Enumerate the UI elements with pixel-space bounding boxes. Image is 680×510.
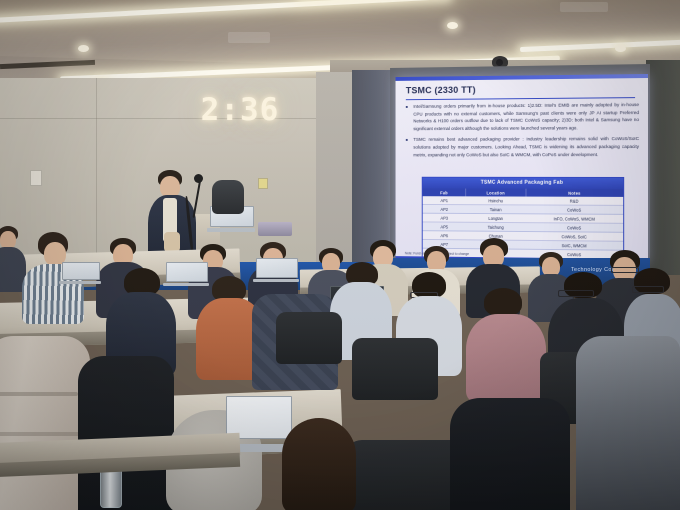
laptop-screen [62,262,100,280]
laptop-base [207,228,256,232]
ceiling-vent-panel [560,2,608,12]
column-header-notes: Notes [526,188,624,197]
presenter-hand [164,232,180,252]
office-chair [212,180,244,214]
slide-bullet: TSMC remains best advanced packaging pro… [405,135,639,158]
foreground-person-dark [78,356,174,510]
conference-room-photo: 2:36 TSMC (2330 TT) Intel/Samsung orders… [0,0,680,510]
presenter-desk-monitor [258,222,292,236]
laptop-screen [256,258,298,278]
cell-location: Hsinchu [466,197,526,206]
dark-wall-panel [352,70,394,265]
audience-laptop [62,262,98,284]
cell-location: Tainan [466,205,526,214]
ceiling-vent-panel [228,32,270,43]
jacket-seam [0,392,78,396]
eyeglasses [558,290,594,297]
foreground-person [450,398,570,510]
slide-title-underline [406,97,635,100]
slide-title: TSMC (2330 TT) [406,85,476,96]
eyeglasses [632,286,664,293]
cell-location: Longtan [466,214,526,223]
person-torso [466,314,546,402]
audience-person-mauve [466,288,546,398]
dark-wall-panel-right [646,60,680,275]
wall-clock: 2:36 [196,88,284,132]
ceiling-downlight [615,45,626,52]
column-header-location: Location [466,188,526,197]
person-hair [484,288,522,316]
wall-signage-plate [30,170,42,186]
cell-fab: AP1 [423,197,466,205]
ceiling-downlight [447,22,458,29]
ceiling-downlight [78,45,89,52]
ceiling-led-strip [0,0,450,23]
person-coat [78,356,174,510]
foreground-person-right [576,336,680,510]
cell-fab: AP3 [423,214,466,223]
wall-sticker [258,178,268,189]
foreground-person-puffer [0,336,90,510]
microphone-head [194,174,203,183]
person-hair [282,418,356,510]
laptop-base [59,281,101,284]
jacket-seam [0,432,82,436]
slide-bullet-list: Intel/Samsung orders primarily from in-h… [405,101,639,162]
ceiling-led-strip [520,39,680,52]
office-chair [352,338,438,400]
foreground-person-long-hair [276,418,362,510]
presentation-slide: TSMC (2330 TT) Intel/Samsung orders prim… [396,74,648,264]
cell-fab: AP5 [423,222,466,231]
office-chair [276,312,342,364]
audience-person [0,226,24,288]
puffer-jacket [0,336,90,510]
column-header-fab: Fab [423,188,466,197]
person-coat [450,398,570,510]
cell-fab: AP2 [423,205,466,214]
slide-bullet: Intel/Samsung orders primarily from in-h… [405,101,639,133]
wall-clock-time: 2:36 [196,88,284,132]
slide-table-banner: TSMC Advanced Packaging Fab [423,178,624,189]
person-jacket [576,336,680,510]
cell-fab: AP6 [423,231,466,240]
